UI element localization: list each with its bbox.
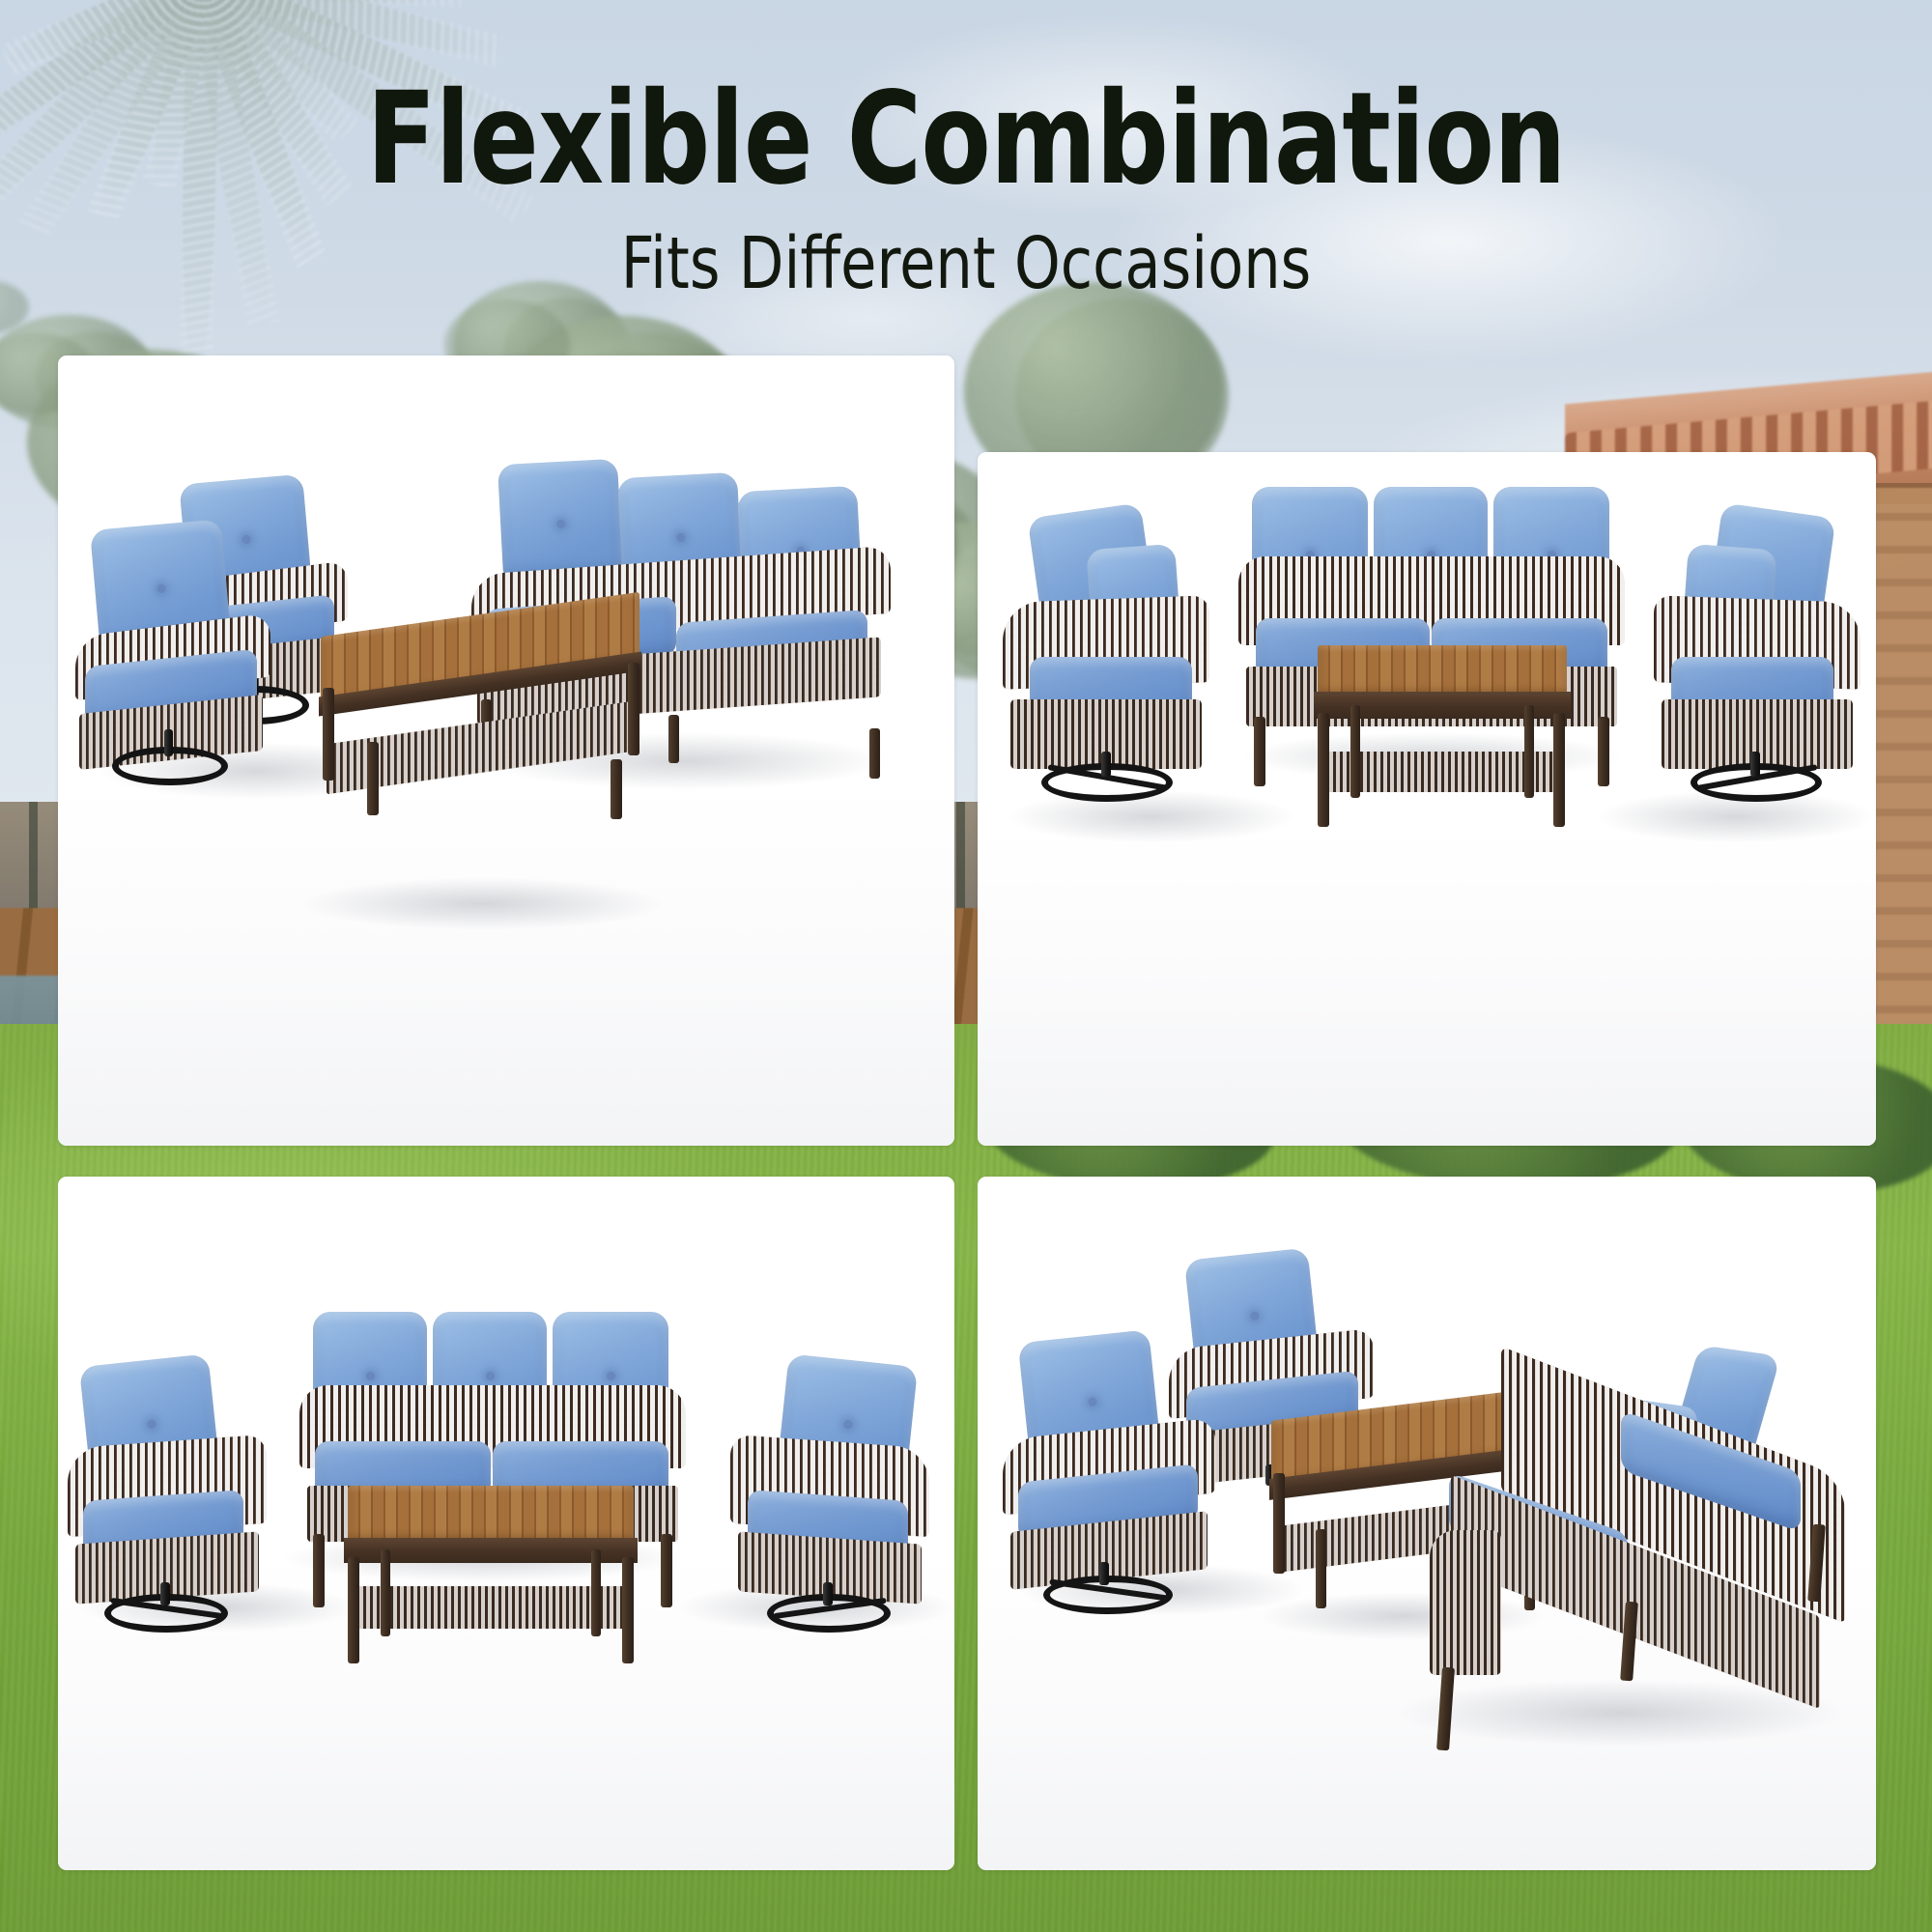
cushion-tuft xyxy=(486,1372,495,1380)
sofa-leg xyxy=(313,1534,325,1607)
coffee-table[interactable] xyxy=(1306,645,1586,848)
table-leg xyxy=(367,742,379,815)
cushion-tuft xyxy=(607,1372,615,1380)
cushion-tuft xyxy=(843,1420,853,1430)
sofa-leg xyxy=(1436,1667,1455,1751)
studio-floor xyxy=(978,827,1876,1146)
furniture-scene-4 xyxy=(978,1177,1876,1870)
swivel-chair[interactable] xyxy=(997,1336,1238,1626)
cushion-tuft xyxy=(676,533,685,542)
table-wood-top xyxy=(1318,645,1567,696)
sofa-leg xyxy=(1254,717,1265,786)
studio-floor xyxy=(58,782,954,1146)
table-leg xyxy=(381,1549,390,1636)
swivel-chair[interactable] xyxy=(1634,510,1866,819)
chair-swivel-post xyxy=(164,729,173,756)
chair-swivel-post xyxy=(823,1582,833,1605)
product-photo-panel-2[interactable] xyxy=(978,452,1876,1146)
cushion-tuft xyxy=(156,584,166,594)
coffee-table[interactable] xyxy=(338,1486,657,1679)
cushion-tuft xyxy=(1088,1397,1097,1406)
table-leg xyxy=(348,1557,359,1663)
page-subtitle: Fits Different Occasions xyxy=(174,228,1758,299)
table-leg xyxy=(1316,1529,1326,1608)
table-lower-shelf xyxy=(350,1586,632,1629)
cushion-tuft xyxy=(556,520,565,528)
swivel-chair[interactable] xyxy=(715,1360,937,1650)
three-seat-sofa[interactable] xyxy=(1393,1341,1866,1766)
swivel-chair[interactable] xyxy=(68,1360,290,1650)
furniture-scene-3 xyxy=(58,1177,954,1870)
product-photo-panel-3[interactable] xyxy=(58,1177,954,1870)
product-photo-panel-4[interactable] xyxy=(978,1177,1876,1870)
chair-swivel-post xyxy=(1099,1562,1109,1585)
sofa-leg xyxy=(661,1534,672,1607)
chair-swivel-post xyxy=(1101,752,1111,777)
table-leg xyxy=(622,1557,634,1663)
table-leg xyxy=(1524,705,1534,798)
table-leg xyxy=(1553,713,1565,827)
coffee-table[interactable] xyxy=(299,614,676,822)
cushion-tuft xyxy=(147,1419,156,1429)
table-leg xyxy=(1350,705,1360,798)
page-title: Flexible Combination xyxy=(193,75,1739,203)
chair-swivel-post xyxy=(1750,752,1760,777)
furniture-scene-1 xyxy=(58,355,954,1146)
cushion-tuft xyxy=(366,1372,375,1380)
sofa-leg xyxy=(869,728,880,779)
furniture-scene-2 xyxy=(978,452,1876,1146)
table-leg xyxy=(628,663,639,755)
sofa-leg xyxy=(1598,717,1609,786)
swivel-chair[interactable] xyxy=(997,510,1229,819)
table-leg xyxy=(1318,713,1329,827)
product-photo-panel-1[interactable] xyxy=(58,355,954,1146)
sofa-arm-front xyxy=(1430,1530,1501,1675)
furniture-shadow xyxy=(299,877,667,930)
table-leg xyxy=(591,1549,601,1636)
table-wood-top xyxy=(348,1486,634,1542)
cushion-tuft xyxy=(1250,1311,1260,1321)
swivel-chair[interactable] xyxy=(68,525,290,781)
table-leg xyxy=(611,759,622,819)
header: Flexible Combination Fits Different Occa… xyxy=(0,0,1932,299)
chair-swivel-post xyxy=(160,1582,170,1605)
table-leg xyxy=(1273,1473,1285,1574)
table-leg xyxy=(323,688,334,781)
sofa-back-cushion xyxy=(497,459,623,579)
